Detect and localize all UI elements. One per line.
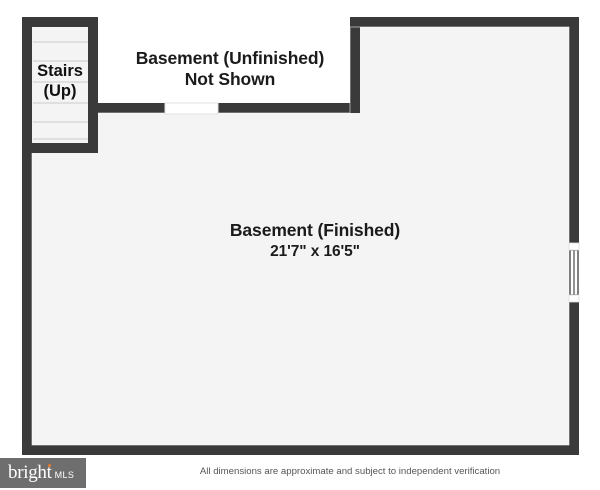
- stairs-label-line1: Stairs: [37, 62, 83, 80]
- window-sill-top: [569, 243, 579, 250]
- room-label-unfinished-line2: Not Shown: [100, 69, 360, 90]
- footer-bar: bright MLS All dimensions are approximat…: [0, 455, 600, 490]
- bright-mls-logo: bright MLS: [0, 458, 86, 488]
- floor-plan-drawing: Basement (Unfinished) Not Shown Basement…: [0, 0, 600, 455]
- window-sill-bottom: [569, 295, 579, 302]
- floor-plan-canvas: Basement (Unfinished) Not Shown Basement…: [0, 0, 600, 490]
- logo-mls-text: MLS: [55, 470, 75, 480]
- room-label-stairs: Stairs (Up): [24, 62, 96, 102]
- room-label-finished-name: Basement (Finished): [230, 220, 400, 240]
- disclaimer-text: All dimensions are approximate and subje…: [150, 466, 550, 477]
- logo-wordmark: bright: [8, 462, 52, 484]
- room-label-unfinished-line1: Basement (Unfinished): [136, 48, 324, 68]
- stairs-label-line2: (Up): [24, 82, 96, 101]
- room-label-basement-finished: Basement (Finished) 21'7" x 16'5": [180, 220, 450, 261]
- logo-accent-dot: [48, 464, 51, 467]
- logo-wordmark-text: bright: [8, 462, 52, 483]
- room-label-basement-unfinished: Basement (Unfinished) Not Shown: [100, 48, 360, 89]
- door-opening: [165, 103, 218, 114]
- room-dimensions: 21'7" x 16'5": [180, 243, 450, 261]
